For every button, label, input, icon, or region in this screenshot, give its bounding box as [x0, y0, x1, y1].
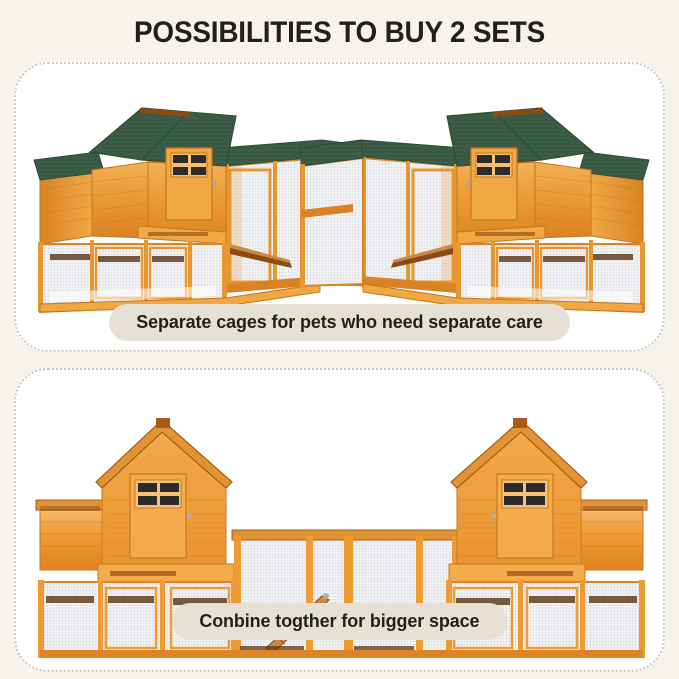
coop-house-right	[447, 108, 649, 244]
panel-separate-cages: Separate cages for pets who need separat…	[14, 62, 665, 352]
coop-house-left	[34, 108, 236, 244]
door-window	[171, 153, 207, 177]
door-window	[135, 480, 181, 508]
door-window	[476, 153, 512, 177]
panel-combined-space: Conbine togther for bigger space	[14, 368, 665, 672]
caption-separate: Separate cages for pets who need separat…	[109, 304, 570, 341]
caption-combined-wrap: Conbine togther for bigger space	[16, 603, 663, 640]
run-right-coop	[355, 140, 463, 292]
infographic-page: POSSIBILITIES TO BUY 2 SETS	[0, 0, 679, 679]
coop-right	[300, 108, 649, 312]
caption-separate-wrap: Separate cages for pets who need separat…	[16, 304, 663, 341]
run-extension-right-coop	[300, 140, 363, 288]
caption-combined: Conbine togther for bigger space	[172, 603, 506, 640]
page-title: POSSIBILITIES TO BUY 2 SETS	[24, 16, 655, 50]
door-window	[502, 480, 548, 508]
